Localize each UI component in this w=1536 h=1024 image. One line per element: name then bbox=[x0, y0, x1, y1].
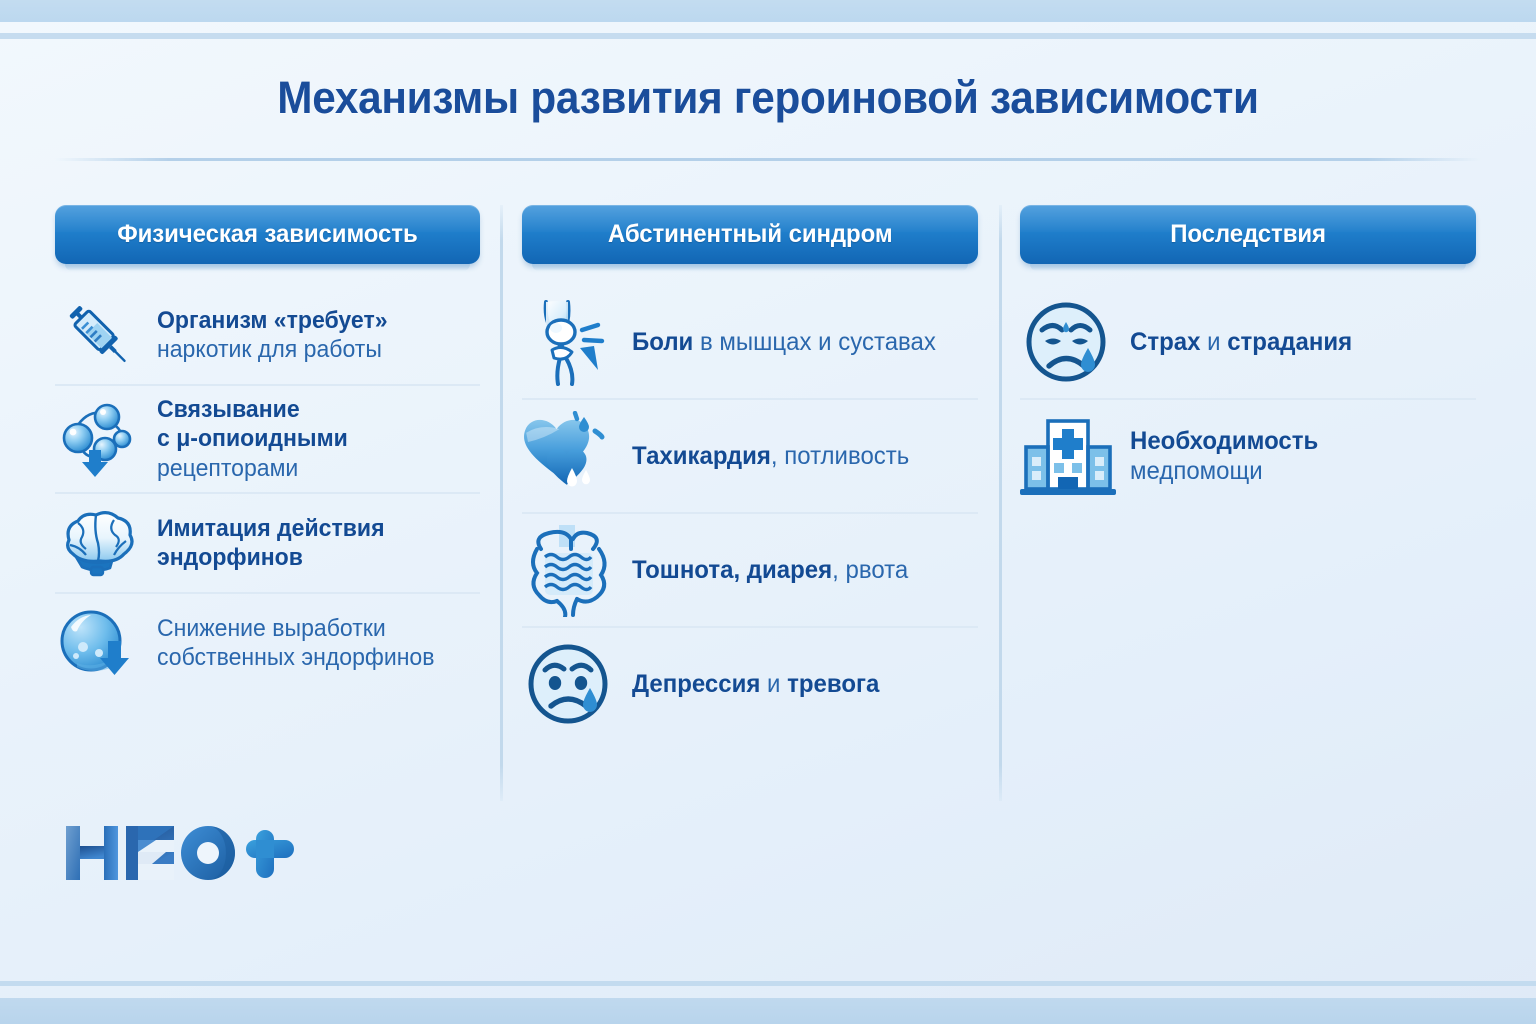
column-divider-2 bbox=[999, 205, 1002, 801]
line-1-bold-2: страдания bbox=[1227, 328, 1352, 356]
line-1-regular: , рвота bbox=[832, 556, 908, 584]
line-1: Необходимость bbox=[1130, 426, 1462, 457]
title-divider bbox=[55, 158, 1481, 161]
list-item-text: Связывание с μ-опиоидными рецепторами bbox=[157, 395, 467, 483]
top-decorative-band bbox=[0, 0, 1536, 22]
line-2: с μ-опиоидными bbox=[157, 424, 467, 453]
column-header-label: Физическая зависимость bbox=[117, 220, 417, 249]
bottom-decorative-band bbox=[0, 998, 1536, 1024]
column-header-label: Абстинентный синдром bbox=[608, 220, 893, 249]
fear-face-icon bbox=[1020, 295, 1116, 389]
list-item-text: Организм «требует» наркотик для работы bbox=[157, 306, 467, 365]
list-item: Необходимость медпомощи bbox=[1020, 398, 1476, 512]
list-item-text: Тошнота, диарея, рвота bbox=[632, 555, 964, 586]
line-1-bold: Тошнота, диарея bbox=[632, 556, 832, 584]
endorphin-decrease-icon bbox=[55, 603, 141, 683]
column-header-shadow bbox=[532, 264, 968, 271]
hospital-icon bbox=[1020, 409, 1116, 503]
line-2: медпомощи bbox=[1130, 456, 1462, 487]
items-list-withdrawal: Боли в мышцах и суставах bbox=[522, 286, 978, 740]
infographic-page: Механизмы развития героиновой зависимост… bbox=[0, 0, 1536, 1024]
columns-container: Физическая зависимость bbox=[0, 205, 1536, 805]
intestines-icon bbox=[522, 523, 618, 617]
list-item: Тахикардия, потливость bbox=[522, 398, 978, 512]
list-item: Организм «требует» наркотик для работы bbox=[55, 286, 480, 384]
line-1-regular: и bbox=[1200, 328, 1227, 356]
line-1-regular: и bbox=[760, 670, 787, 698]
line-1-bold-2: тревога bbox=[787, 670, 879, 698]
line-1: Связывание bbox=[157, 395, 467, 424]
line-2: собственных эндорфинов bbox=[157, 643, 467, 672]
column-divider-1 bbox=[500, 205, 503, 801]
top-rule bbox=[0, 33, 1536, 39]
syringe-icon bbox=[55, 295, 141, 375]
column-withdrawal-syndrome: Абстинентный синдром bbox=[522, 205, 978, 740]
line-1: Имитация действия bbox=[157, 514, 467, 543]
sad-face-tear-icon bbox=[522, 637, 618, 731]
column-physical-dependence: Физическая зависимость bbox=[55, 205, 480, 692]
list-item-text: Депрессия и тревога bbox=[632, 669, 964, 700]
line-1-bold: Депрессия bbox=[632, 670, 760, 698]
line-1: Снижение выработки bbox=[157, 614, 467, 643]
column-header-physical-dependence: Физическая зависимость bbox=[55, 205, 480, 264]
column-consequences: Последствия bbox=[1020, 205, 1476, 512]
line-2: наркотик для работы bbox=[157, 335, 467, 364]
line-2: эндорфинов bbox=[157, 543, 467, 572]
list-item: Боли в мышцах и суставах bbox=[522, 286, 978, 398]
list-item: Страх и страдания bbox=[1020, 286, 1476, 398]
list-item-text: Боли в мышцах и суставах bbox=[632, 327, 964, 358]
list-item: Тошнота, диарея, рвота bbox=[522, 512, 978, 626]
joint-pain-icon bbox=[522, 295, 618, 389]
brand-logo bbox=[60, 818, 300, 888]
list-item: Имитация действия эндорфинов bbox=[55, 492, 480, 592]
column-header-label: Последствия bbox=[1170, 220, 1326, 249]
list-item-text: Страх и страдания bbox=[1130, 327, 1462, 358]
items-list-consequences: Страх и страдания bbox=[1020, 286, 1476, 512]
column-header-shadow bbox=[1030, 264, 1466, 271]
column-header-consequences: Последствия bbox=[1020, 205, 1476, 264]
line-1-regular: в мышцах и суставах bbox=[693, 328, 936, 356]
molecule-binding-icon bbox=[55, 399, 141, 479]
list-item-text: Тахикардия, потливость bbox=[632, 441, 964, 472]
column-header-shadow bbox=[65, 264, 470, 271]
line-1-regular: , потливость bbox=[771, 442, 909, 470]
line-1-bold: Тахикардия bbox=[632, 442, 771, 470]
list-item: Связывание с μ-опиоидными рецепторами bbox=[55, 384, 480, 492]
heart-sweat-icon bbox=[522, 409, 618, 503]
list-item: Депрессия и тревога bbox=[522, 626, 978, 740]
brain-icon bbox=[55, 503, 141, 583]
bottom-rule bbox=[0, 981, 1536, 986]
list-item-text: Необходимость медпомощи bbox=[1130, 426, 1462, 487]
line-3: рецепторами bbox=[157, 454, 467, 483]
items-list-physical: Организм «требует» наркотик для работы bbox=[55, 286, 480, 692]
page-title: Механизмы развития героиновой зависимост… bbox=[46, 72, 1490, 124]
line-1-bold: Боли bbox=[632, 328, 693, 356]
list-item: Снижение выработки собственных эндорфино… bbox=[55, 592, 480, 692]
column-header-withdrawal-syndrome: Абстинентный синдром bbox=[522, 205, 978, 264]
list-item-text: Имитация действия эндорфинов bbox=[157, 514, 467, 573]
line-1-bold: Страх bbox=[1130, 328, 1200, 356]
list-item-text: Снижение выработки собственных эндорфино… bbox=[157, 614, 467, 673]
line-1: Организм «требует» bbox=[157, 306, 467, 335]
